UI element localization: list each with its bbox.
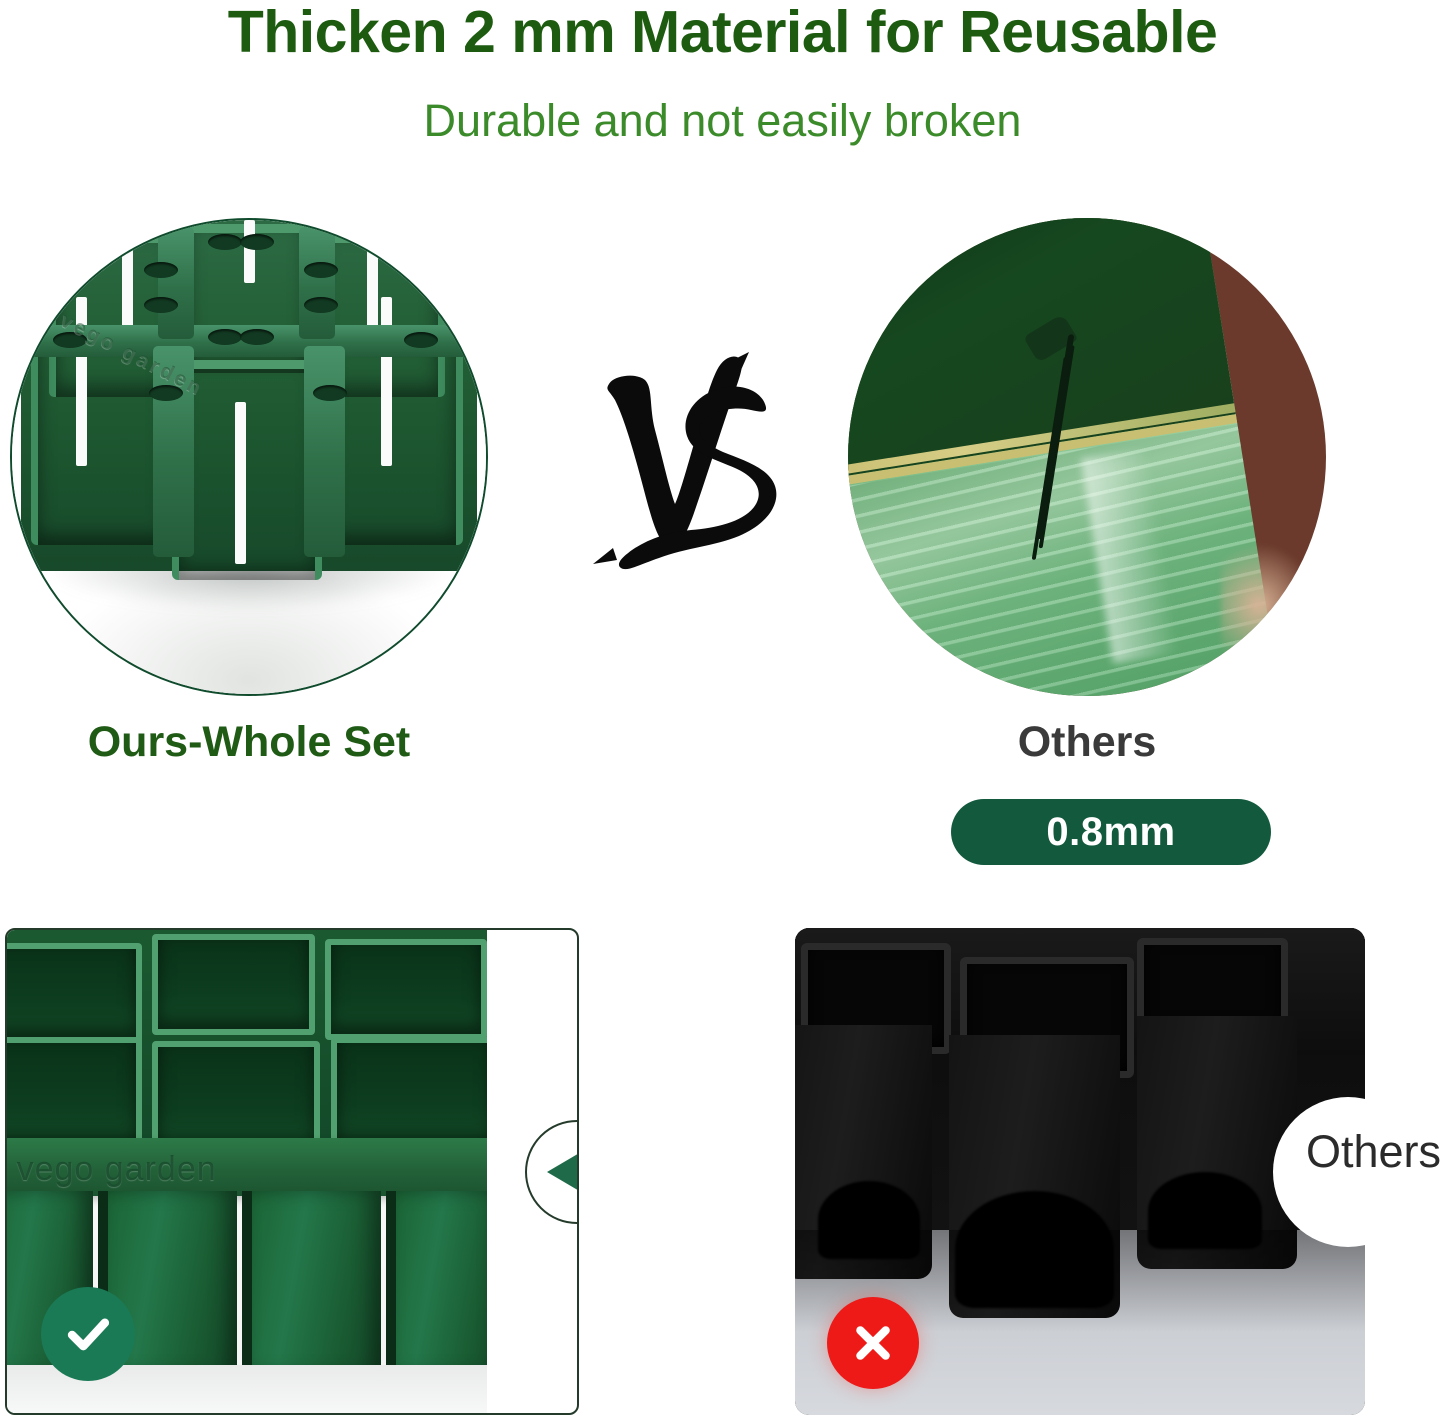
tray-cell: [325, 939, 487, 1040]
tray-drain-hole: [304, 262, 338, 278]
tray-drain-hole: [240, 234, 274, 250]
ours-label: Ours-Whole Set: [10, 718, 488, 767]
ours-tray-image: vego garden: [12, 220, 486, 694]
check-icon: [41, 1287, 135, 1381]
page-title: Thicken 2 mm Material for Reusable: [0, 2, 1445, 64]
background-hand: [1221, 543, 1317, 667]
tray-pot: [252, 1191, 382, 1375]
tray-rib-slot: [235, 402, 246, 563]
tray-top-grid: [7, 930, 487, 1152]
tray-divider: [158, 227, 194, 339]
tray-pot: [396, 1191, 487, 1375]
tray-drain-hole: [208, 234, 242, 250]
tray-cell: [7, 943, 142, 1044]
vego-garden-emboss: vego garden: [17, 1150, 217, 1189]
tray-cell: [7, 1037, 142, 1151]
broken-pot-body: [848, 218, 1278, 696]
tray-rib-slot: [381, 297, 392, 465]
x-icon: [827, 1297, 919, 1389]
tray-rib-slot: [244, 220, 255, 283]
tray-body: vego garden: [21, 220, 476, 571]
bad-product-panel: [795, 928, 1365, 1415]
others-product-photo-circle: [848, 218, 1326, 696]
tray-drain-hole: [240, 329, 274, 345]
tray-cell: [152, 934, 314, 1035]
good-product-panel: vego garden: [5, 928, 579, 1415]
thickness-badge: 0.8mm: [951, 799, 1271, 865]
ours-product-photo-circle: vego garden: [10, 218, 488, 696]
tray-cell: [331, 1037, 487, 1151]
tray-drain-hole: [404, 332, 438, 348]
tray-divider: [304, 346, 345, 556]
tray-drain-hole: [313, 385, 347, 401]
arrow-left-icon: [547, 1145, 579, 1199]
tray-divider: [299, 227, 335, 339]
vs-mark: [583, 348, 793, 578]
page-subtitle: Durable and not easily broken: [0, 96, 1445, 146]
others-broken-pot-image: [848, 218, 1326, 696]
others-label-bottom: Others: [1306, 1126, 1441, 1178]
others-label-top: Others: [848, 718, 1326, 767]
tray-drain-hole: [304, 297, 338, 313]
tray-drain-hole: [208, 329, 242, 345]
